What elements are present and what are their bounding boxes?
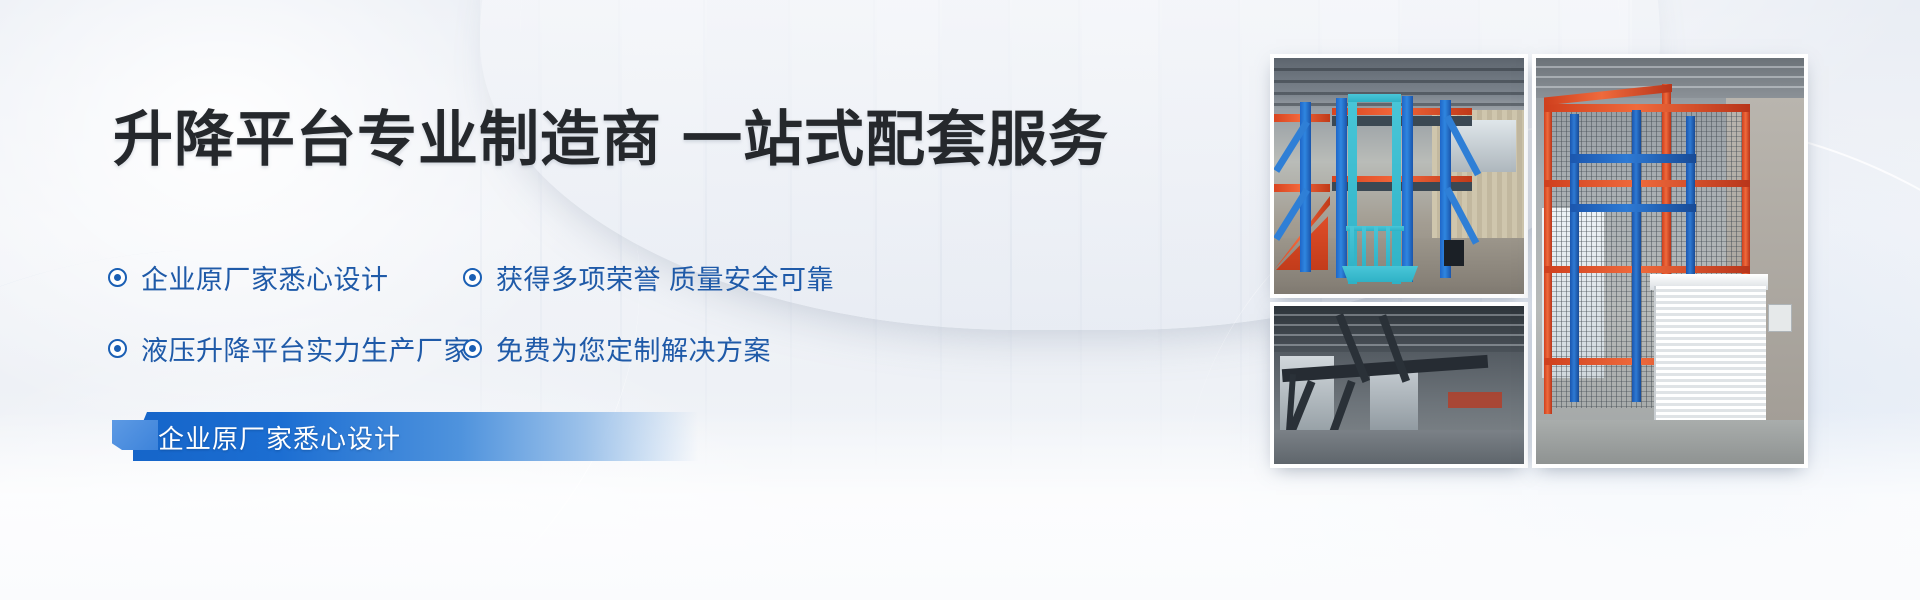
factory-floor xyxy=(1274,430,1524,464)
cyan-top-beam xyxy=(1348,94,1401,102)
bullet-dot-icon xyxy=(108,268,127,287)
bullet-label: 液压升降平台实力生产厂家 xyxy=(141,329,471,368)
photo-caged-hydraulic-cargo-lift[interactable] xyxy=(1532,54,1808,468)
cyan-guard-bar xyxy=(1386,226,1390,268)
cyan-guard-bar xyxy=(1350,226,1354,268)
bullet-dot-icon xyxy=(463,268,482,287)
hall-window xyxy=(1370,368,1418,430)
cyan-guard-bar xyxy=(1362,226,1366,268)
roller-shutter-door xyxy=(1654,286,1766,434)
blue-carriage-beam xyxy=(1570,204,1696,212)
ribbon-tab-icon xyxy=(112,420,158,450)
bullet-label: 企业原厂家悉心设计 xyxy=(141,258,389,297)
photo-blue-red-rack-goods-lift[interactable] xyxy=(1270,54,1528,298)
bullet-label: 获得多项荣誉 质量安全可靠 xyxy=(496,258,834,297)
bullet-dot-icon xyxy=(108,339,127,358)
banner-text-block: 升降平台专业制造商一站式配套服务 企业原厂家悉心设计 获得多项荣誉 质量安全可靠… xyxy=(0,0,1040,600)
bullet-item: 企业原厂家悉心设计 xyxy=(108,258,463,297)
photo-scene xyxy=(1536,58,1804,464)
feature-bullet-list: 企业原厂家悉心设计 获得多项荣誉 质量安全可靠 液压升降平台实力生产厂家 免费为… xyxy=(108,258,988,400)
red-frame-post xyxy=(1544,104,1552,414)
factory-floor xyxy=(1536,420,1804,464)
blue-column xyxy=(1336,98,1347,278)
photo-scene xyxy=(1274,306,1524,464)
bullet-row: 液压升降平台实力生产厂家 免费为您定制解决方案 xyxy=(108,329,988,368)
cyan-platform-deck xyxy=(1342,266,1418,282)
product-photo-group xyxy=(1030,0,1920,600)
bullet-item: 液压升降平台实力生产厂家 xyxy=(108,329,463,368)
blue-column xyxy=(1402,96,1413,282)
bullet-row: 企业原厂家悉心设计 获得多项荣誉 质量安全可靠 xyxy=(108,258,988,297)
control-cabinet xyxy=(1444,240,1464,266)
cyan-mast xyxy=(1392,94,1401,284)
electrical-control-box xyxy=(1768,304,1792,332)
highlight-ribbon[interactable]: 企业原厂家悉心设计 xyxy=(112,408,712,464)
bullet-item: 获得多项荣誉 质量安全可靠 xyxy=(463,258,834,297)
red-frame-top xyxy=(1544,104,1750,112)
bullet-item: 免费为您定制解决方案 xyxy=(463,329,771,368)
bullet-dot-icon xyxy=(463,339,482,358)
ribbon-label: 企业原厂家悉心设计 xyxy=(158,419,401,456)
cyan-guard-bar xyxy=(1374,226,1378,268)
steel-roof-structure xyxy=(1274,306,1524,352)
red-crane-beam xyxy=(1448,392,1502,408)
photo-scene xyxy=(1274,58,1524,294)
headline-part-1: 升降平台专业制造商 xyxy=(113,106,662,173)
photo-dark-scissor-lift-platform[interactable] xyxy=(1270,302,1528,468)
promo-banner: 升降平台专业制造商一站式配套服务 企业原厂家悉心设计 获得多项荣誉 质量安全可靠… xyxy=(0,0,1920,600)
blue-carriage-beam xyxy=(1570,154,1696,163)
banner-headline: 升降平台专业制造商一站式配套服务 xyxy=(113,110,1109,170)
bullet-label: 免费为您定制解决方案 xyxy=(496,329,771,368)
